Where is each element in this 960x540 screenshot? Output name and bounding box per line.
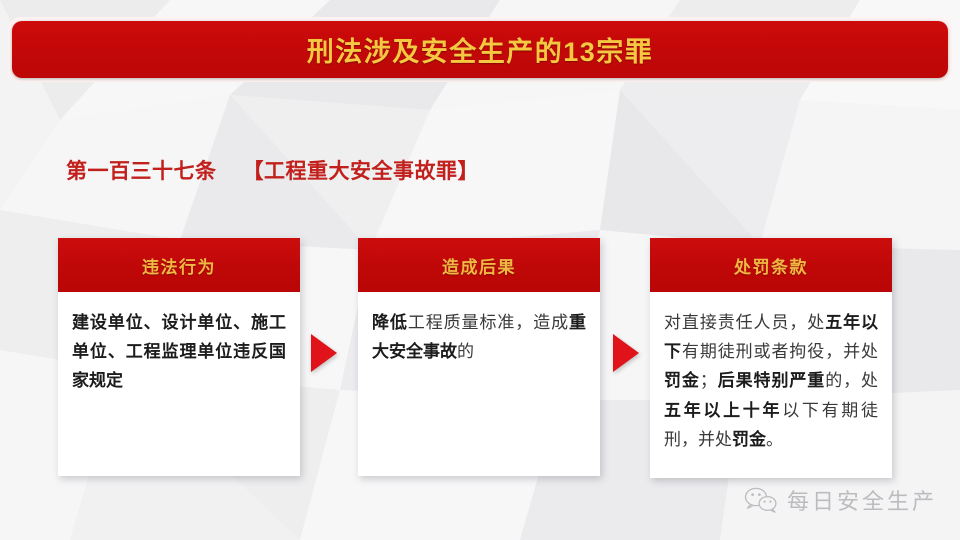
card-penalty: 处罚条款 对直接责任人员，处五年以下有期徒刑或者拘役，并处罚金；后果特别严重的，… bbox=[650, 238, 892, 478]
card-violation: 违法行为 建设单位、设计单位、施工单位、工程监理单位违反国家规定 bbox=[58, 238, 300, 476]
card-consequence-body: 降低工程质量标准，造成重大安全事故的 bbox=[358, 292, 600, 376]
watermark: 每日安全生产 bbox=[744, 484, 937, 516]
title-banner: 刑法涉及安全生产的13宗罪 bbox=[8, 17, 952, 82]
arrow-right-icon bbox=[613, 334, 639, 372]
subtitle-article-number: 第一百三十七条 bbox=[66, 160, 217, 183]
wechat-icon bbox=[744, 486, 778, 514]
subtitle: 第一百三十七条【工程重大安全事故罪】 bbox=[66, 155, 479, 185]
card-consequence: 造成后果 降低工程质量标准，造成重大安全事故的 bbox=[358, 238, 600, 476]
card-consequence-header: 造成后果 bbox=[358, 238, 600, 292]
card-violation-header: 违法行为 bbox=[58, 238, 300, 292]
slide-canvas: 刑法涉及安全生产的13宗罪 第一百三十七条【工程重大安全事故罪】 违法行为 建设… bbox=[0, 0, 960, 540]
watermark-label: 每日安全生产 bbox=[787, 484, 937, 516]
card-penalty-header-label: 处罚条款 bbox=[734, 253, 808, 278]
card-violation-body: 建设单位、设计单位、施工单位、工程监理单位违反国家规定 bbox=[58, 292, 300, 406]
title-banner-inner: 刑法涉及安全生产的13宗罪 bbox=[12, 21, 948, 78]
arrow-right-icon bbox=[311, 334, 337, 372]
card-penalty-body: 对直接责任人员，处五年以下有期徒刑或者拘役，并处罚金；后果特别严重的，处五年以上… bbox=[650, 292, 892, 464]
card-consequence-header-label: 造成后果 bbox=[442, 253, 516, 278]
page-title: 刑法涉及安全生产的13宗罪 bbox=[307, 30, 654, 69]
card-violation-header-label: 违法行为 bbox=[142, 253, 216, 278]
card-penalty-header: 处罚条款 bbox=[650, 238, 892, 292]
subtitle-crime-name: 【工程重大安全事故罪】 bbox=[243, 160, 480, 183]
